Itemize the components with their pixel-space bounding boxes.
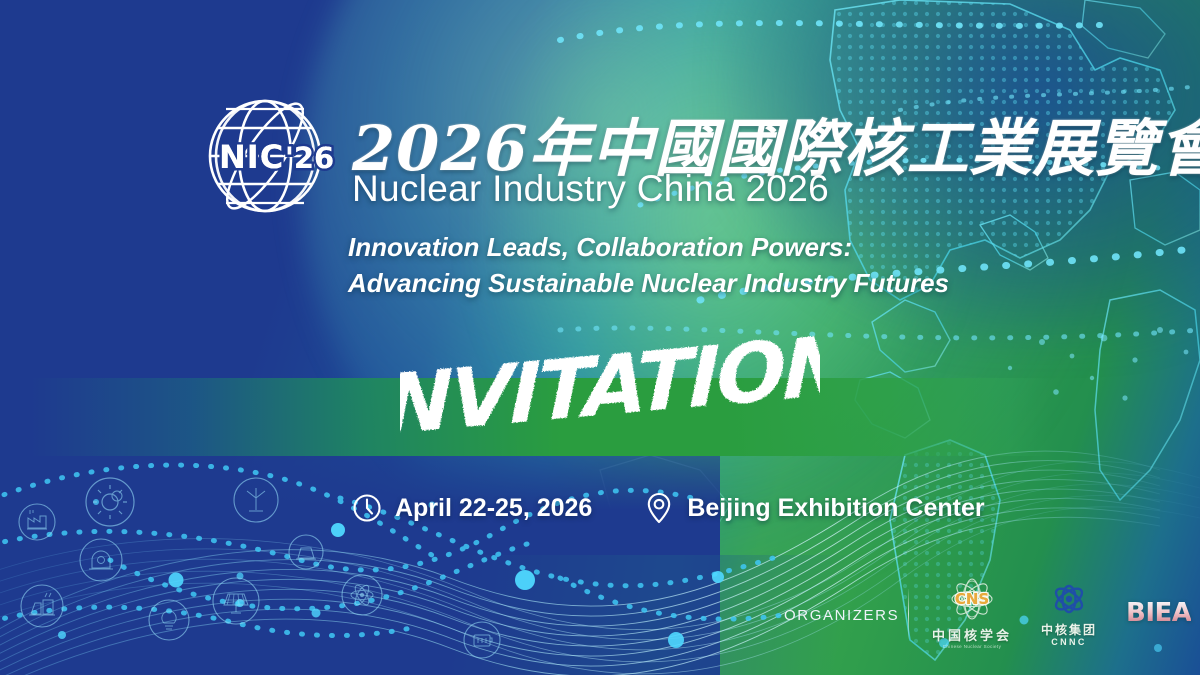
organizer-logos: CNS CNS 中国核学会 Chinese Nuclear Society 中核… — [930, 578, 1191, 648]
tagline-line-1: Innovation Leads, Collaboration Powers: — [348, 230, 949, 266]
location-pin-icon — [644, 492, 674, 524]
event-date: April 22-25, 2026 — [395, 494, 592, 523]
clock-icon — [352, 493, 382, 523]
event-info-row: April 22-25, 2026 Beijing Exhibition Cen… — [352, 492, 985, 524]
cns-name-en: Chinese Nuclear Society — [930, 644, 1014, 649]
organizers-divider — [908, 589, 909, 639]
cns-name-cn: 中国核学会 — [930, 629, 1014, 642]
organizer-logo-cns: CNS CNS 中国核学会 Chinese Nuclear Society — [930, 578, 1014, 649]
tagline-line-2: Advancing Sustainable Nuclear Industry F… — [348, 266, 949, 302]
organizers-label: ORGANIZERS — [784, 607, 899, 624]
svg-text:NIC: NIC — [219, 138, 284, 176]
organizer-logo-cnnc: 中核集团 CNNC — [1038, 579, 1100, 647]
nic-globe-logo: NIC '26 NIC '26 — [193, 92, 337, 222]
svg-text:'26: '26 — [285, 141, 334, 175]
cnnc-atom-icon — [1038, 579, 1100, 619]
organizer-logo-biea: BIEA — [1126, 598, 1191, 628]
cnnc-name-cn: 中核集团 — [1038, 624, 1100, 636]
invitation-poster: NIC '26 NIC '26 2026年中國國際核工業展覽會 Nuclear … — [0, 0, 1200, 675]
svg-text:CNS: CNS — [955, 590, 989, 608]
biea-acronym: BIEA — [1126, 598, 1191, 628]
tagline: Innovation Leads, Collaboration Powers: … — [348, 230, 949, 301]
invitation-word: INVITATION — [400, 326, 820, 446]
invitation-word-text: INVITATION — [400, 326, 820, 446]
event-date-item: April 22-25, 2026 — [352, 493, 592, 523]
cns-atom-icon: CNS CNS — [930, 578, 1014, 622]
title-english: Nuclear Industry China 2026 — [352, 168, 829, 210]
event-venue: Beijing Exhibition Center — [687, 494, 984, 523]
cnnc-acronym: CNNC — [1038, 637, 1100, 647]
event-venue-item: Beijing Exhibition Center — [644, 492, 984, 524]
